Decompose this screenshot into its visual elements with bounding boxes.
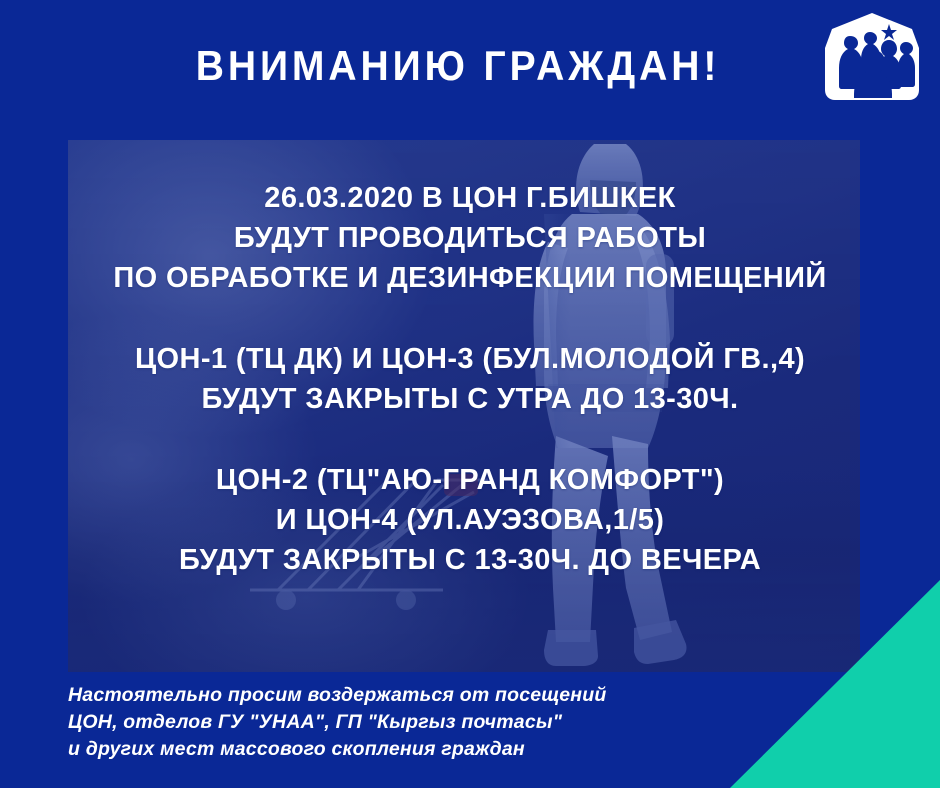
people-in-house-logo-icon	[820, 10, 924, 104]
poster-header: ВНИМАНИЮ ГРАЖДАН!	[0, 0, 940, 140]
announcement-poster: ВНИМАНИЮ ГРАЖДАН!	[0, 0, 940, 788]
photo-blue-tint-overlay	[68, 140, 860, 672]
background-photo-panel	[68, 140, 860, 672]
footer-line: и других мест массового скопления гражда…	[68, 736, 748, 763]
footer-line: ЦОН, отделов ГУ "УНАА", ГП "Кыргыз почта…	[68, 709, 748, 736]
page-title: ВНИМАНИЮ ГРАЖДАН!	[151, 40, 765, 92]
footer-advisory-note: Настоятельно просим воздержаться от посе…	[68, 682, 748, 763]
footer-line: Настоятельно просим воздержаться от посе…	[68, 682, 748, 709]
